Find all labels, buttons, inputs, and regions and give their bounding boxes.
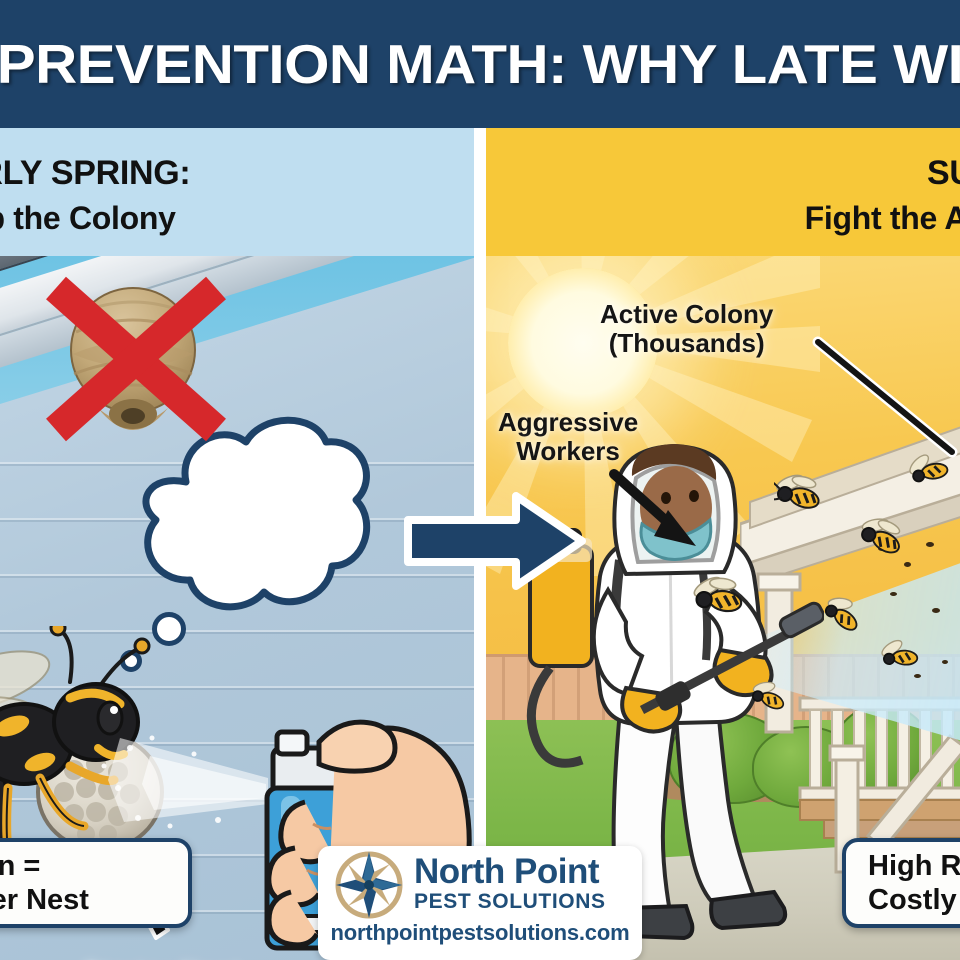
poster-title: PREVENTION MATH: WHY LATE WI xyxy=(24,32,936,96)
compass-rose-icon xyxy=(334,850,404,920)
left-panel-header: R / EARLY SPRING: n = Stop the Colony xyxy=(0,128,480,256)
left-header-line2: n = Stop the Colony xyxy=(0,200,176,237)
right-callout-line1: High R xyxy=(868,849,960,883)
colony-pointer-line xyxy=(810,334,960,464)
logo-row: North Point PEST SOLUTIONS xyxy=(328,854,632,916)
aggressive-workers-line1: Aggressive xyxy=(498,408,638,437)
company-logo[interactable]: North Point PEST SOLUTIONS northpointpes… xyxy=(318,846,642,960)
distant-wasp-speck xyxy=(932,608,940,613)
right-header-line2: Fight the Army = xyxy=(805,200,960,237)
left-callout-text: e Action = Summer Nest xyxy=(0,849,89,917)
infographic-poster: PREVENTION MATH: WHY LATE WI xyxy=(0,0,960,960)
wasp-icon xyxy=(774,474,822,514)
right-panel-header: SUMME Fight the Army = xyxy=(480,128,960,256)
active-colony-line1: Active Colony xyxy=(600,300,773,329)
poster-title-bar: PREVENTION MATH: WHY LATE WI xyxy=(0,0,960,128)
wasp-icon xyxy=(746,677,790,714)
right-header-line1: SUMME xyxy=(927,154,960,193)
right-arrow-icon xyxy=(404,492,586,590)
right-callout-box: High R Costly R xyxy=(842,838,960,928)
poster-title-text: PREVENTION MATH: WHY LATE WI xyxy=(0,32,960,96)
logo-wordmark: North Point PEST SOLUTIONS xyxy=(414,854,606,915)
distant-wasp-speck xyxy=(942,660,948,664)
logo-brand-line1: North Point xyxy=(414,854,606,889)
left-callout-box: e Action = Summer Nest xyxy=(0,838,192,928)
left-header-line1: R / EARLY SPRING: xyxy=(0,154,190,193)
workers-pointer-arrow xyxy=(608,466,704,556)
thought-bubble-icon xyxy=(128,416,378,626)
aggressive-workers-line2: Workers xyxy=(498,437,638,466)
active-colony-label: Active Colony (Thousands) xyxy=(600,300,773,358)
left-callout-line2: Summer Nest xyxy=(0,883,89,917)
distant-wasp-speck xyxy=(904,562,911,567)
distant-wasp-speck xyxy=(890,592,897,596)
distant-wasp-speck xyxy=(926,542,934,547)
logo-brand-line2: PEST SOLUTIONS xyxy=(414,889,606,915)
left-callout-line1: e Action = xyxy=(0,849,89,883)
distant-wasp-speck xyxy=(914,674,921,678)
wasp-icon xyxy=(689,573,746,622)
right-callout-line2: Costly R xyxy=(868,883,960,917)
logo-website-url[interactable]: northpointpestsolutions.com xyxy=(328,920,632,946)
aggressive-workers-label: Aggressive Workers xyxy=(498,408,638,466)
right-callout-text: High R Costly R xyxy=(868,849,960,917)
no-nest-x-icon xyxy=(36,272,236,447)
active-colony-line2: (Thousands) xyxy=(600,329,773,358)
